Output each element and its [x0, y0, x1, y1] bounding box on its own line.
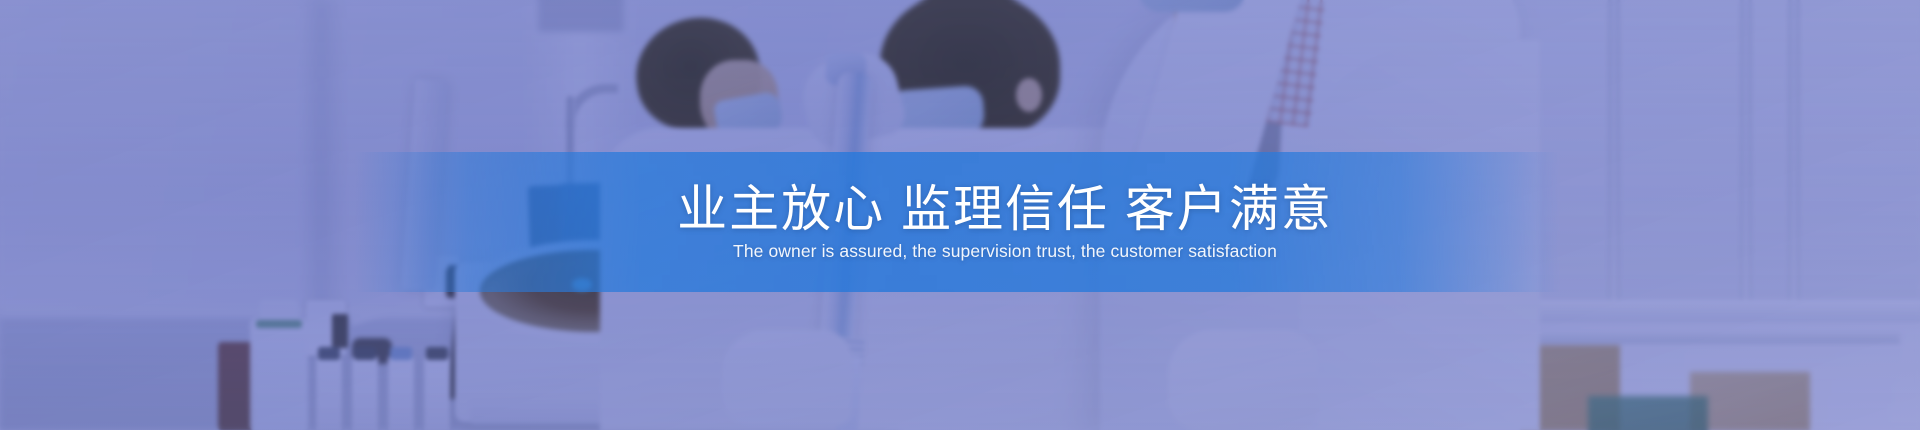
banner-subline: The owner is assured, the supervision tr… — [643, 241, 1277, 262]
reagent-bottle — [218, 342, 254, 430]
water-bottle — [250, 318, 308, 430]
technician-center-ear — [1016, 78, 1042, 112]
sample-vial — [316, 356, 342, 430]
sample-vial — [352, 356, 378, 430]
gloved-hand — [1168, 330, 1318, 430]
green-supply-box — [1588, 396, 1708, 430]
banner-headline: 业主放心 监理信任 客户满意 — [587, 183, 1333, 235]
cardboard-box — [1690, 372, 1810, 430]
sample-vial — [424, 356, 450, 430]
ceiling-panel — [538, 0, 624, 32]
banner-text-block: 业主放心 监理信任 客户满意 The owner is assured, the… — [0, 152, 1920, 292]
hero-banner: 业主放心 监理信任 客户满意 The owner is assured, the… — [0, 0, 1920, 430]
sample-vial — [388, 356, 414, 430]
gloved-hand — [722, 330, 852, 426]
face-mask — [1138, 0, 1246, 12]
